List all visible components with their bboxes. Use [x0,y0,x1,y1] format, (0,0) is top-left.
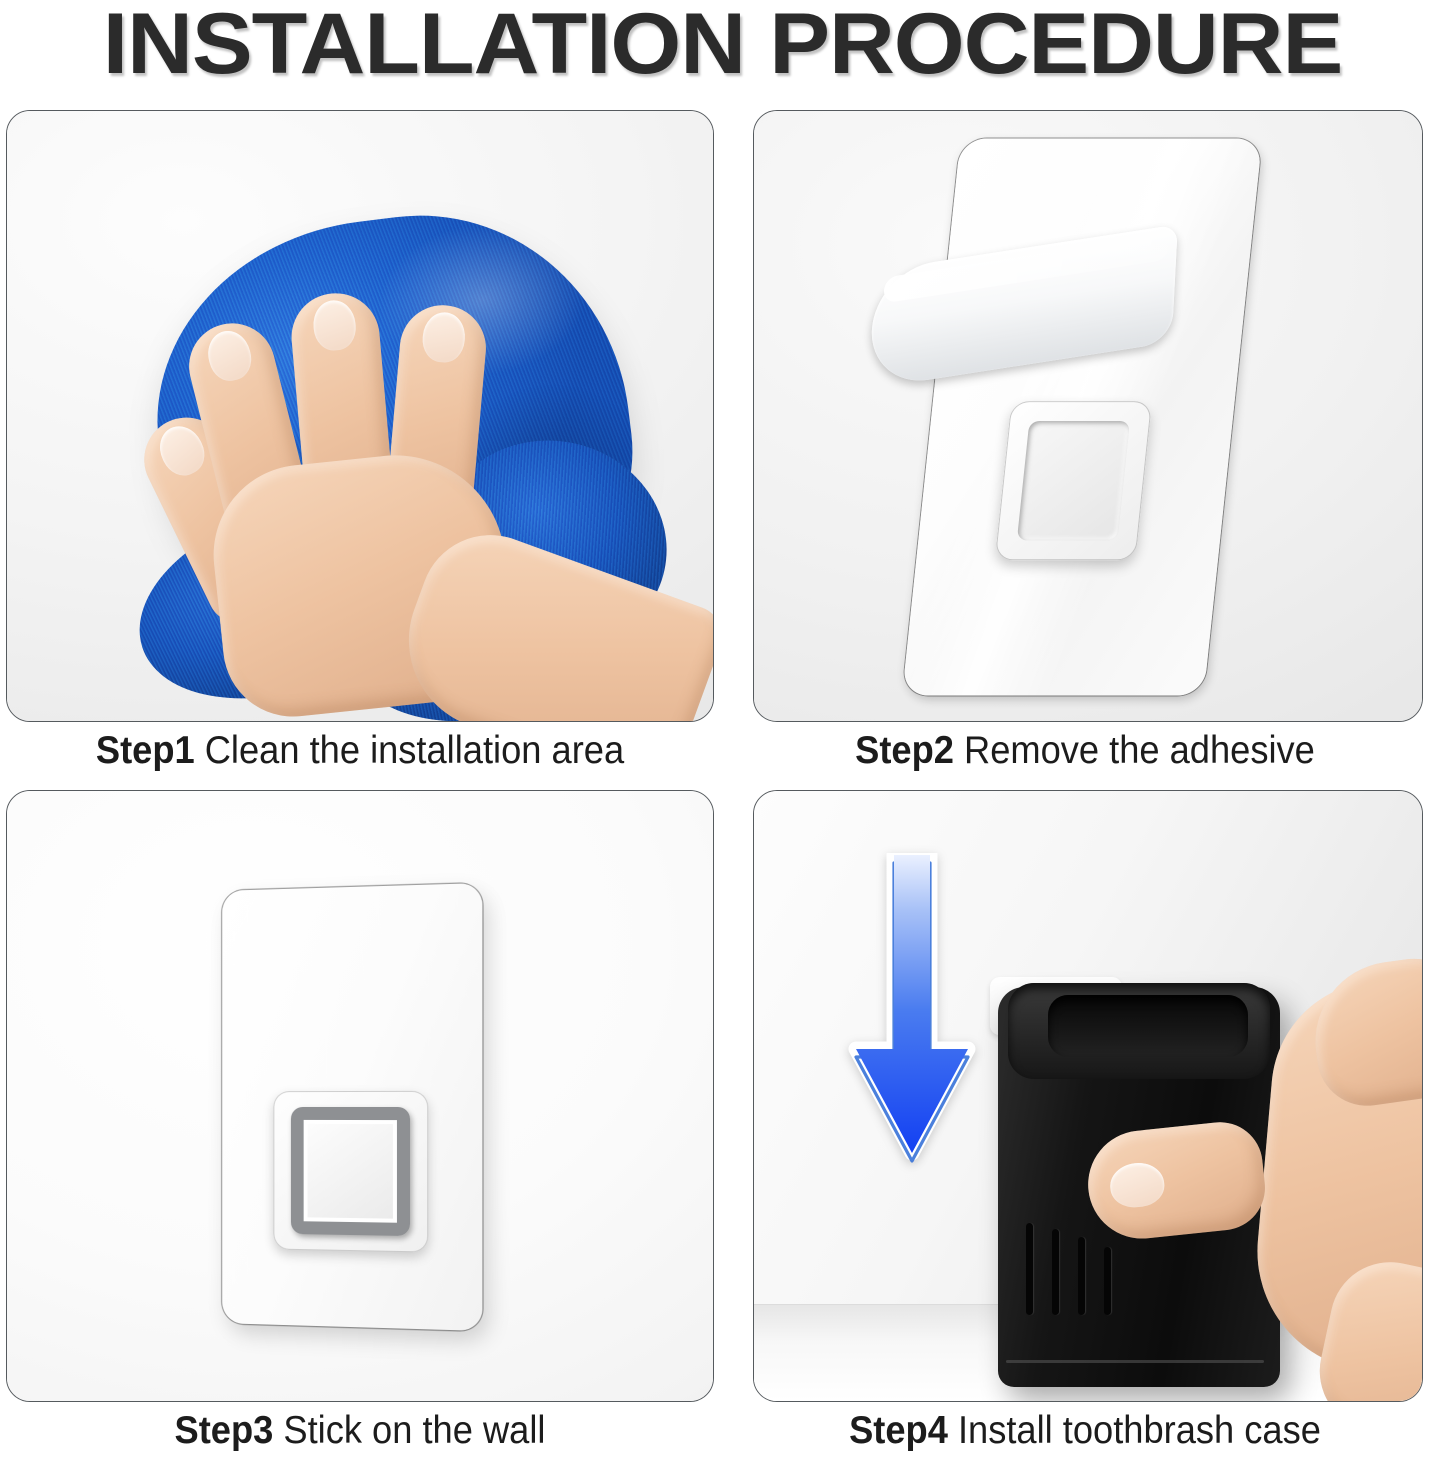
step2-image-panel [753,110,1423,722]
step4-image-panel [753,790,1423,1402]
down-arrow-icon [842,853,982,1203]
adhesive-pad-tilted [901,131,1293,708]
bracket-ring [291,1107,410,1236]
fingernail [311,299,357,352]
hand-holding-case [1174,941,1423,1401]
step3-image-panel [6,790,714,1402]
thumbnail [1108,1160,1166,1209]
adhesive-pad-mounted [222,883,482,1331]
step3-label: Step3 [175,1409,274,1452]
step2-caption: Step2 Remove the adhesive [750,728,1420,774]
step4-text: Install toothbrash case [948,1409,1321,1452]
page-title: INSTALLATION PROCEDURE [0,0,1445,94]
step3-caption: Step3 Stick on the wall [25,1408,695,1454]
step1-caption: Step1 Clean the installation area [25,728,695,774]
drainage-slot [1078,1237,1085,1315]
step2-text: Remove the adhesive [954,729,1315,772]
hand-pressing-cloth [157,231,714,722]
fingernail [203,326,256,385]
drainage-slot [1104,1247,1111,1315]
fingernail [421,311,467,364]
step4-label: Step4 [849,1409,948,1452]
drainage-slot [1052,1229,1059,1315]
square-bracket-step3 [273,1091,428,1253]
step1-image-panel [6,110,714,722]
step4-caption: Step4 Install toothbrash case [750,1408,1420,1454]
square-bracket-step2 [995,401,1152,560]
drainage-slot [1026,1223,1033,1315]
bracket-inner-recess [1017,421,1130,540]
step2-label: Step2 [855,729,954,772]
step3-text: Stick on the wall [273,1409,545,1452]
step1-label: Step1 [96,729,195,772]
step1-text: Clean the installation area [195,729,624,772]
